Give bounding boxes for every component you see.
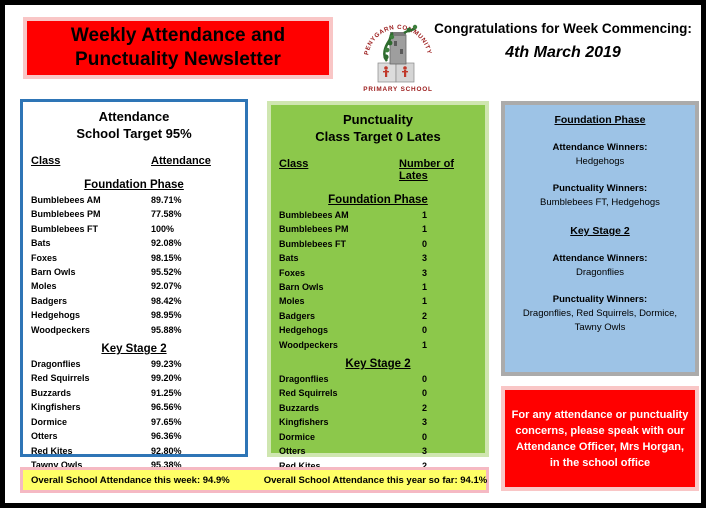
class-value: 3 bbox=[399, 266, 477, 280]
school-logo: PENYGARN COMMUNITY bbox=[360, 13, 436, 97]
attendance-sections: Foundation Phase Bumblebees AM89.71% Bum… bbox=[23, 179, 245, 472]
class-value: 92.80% bbox=[151, 444, 237, 458]
notice-panel: For any attendance or punctuality concer… bbox=[501, 386, 699, 491]
class-value: 96.56% bbox=[151, 400, 237, 414]
class-value: 2 bbox=[399, 401, 477, 415]
congrats-label: Congratulations for Week Commencing: bbox=[429, 19, 697, 39]
attendance-section-title-ks2: Key Stage 2 bbox=[23, 343, 245, 355]
table-row: Hedgehogs0 bbox=[279, 323, 477, 337]
class-name: Red Kites bbox=[31, 444, 151, 458]
class-name: Hedgehogs bbox=[31, 308, 151, 322]
class-name: Moles bbox=[279, 294, 399, 308]
class-value: 95.52% bbox=[151, 265, 237, 279]
table-row: Red Kites92.80% bbox=[31, 444, 237, 458]
title-line-2: Punctuality Newsletter bbox=[75, 48, 281, 72]
attendance-col-class: Class bbox=[31, 155, 60, 167]
class-name: Woodpeckers bbox=[279, 338, 399, 352]
table-row: Bumblebees AM1 bbox=[279, 208, 477, 222]
class-name: Woodpeckers bbox=[31, 323, 151, 337]
table-row: Kingfishers3 bbox=[279, 415, 477, 429]
class-value: 1 bbox=[399, 338, 477, 352]
class-name: Bumblebees PM bbox=[279, 222, 399, 236]
winners-ks2-title: Key Stage 2 bbox=[511, 224, 689, 239]
table-row: Woodpeckers1 bbox=[279, 338, 477, 352]
table-row: Otters96.36% bbox=[31, 429, 237, 443]
class-value: 0 bbox=[399, 430, 477, 444]
class-name: Bumblebees FT bbox=[31, 222, 151, 236]
class-value: 98.42% bbox=[151, 294, 237, 308]
punctuality-subheading: Class Target 0 Lates bbox=[271, 128, 485, 145]
class-name: Red Squirrels bbox=[279, 386, 399, 400]
class-name: Dragonflies bbox=[31, 357, 151, 371]
class-name: Barn Owls bbox=[31, 265, 151, 279]
table-row: Bumblebees AM89.71% bbox=[31, 193, 237, 207]
attendance-rows-ks2: Dragonflies99.23% Red Squirrels99.20% Bu… bbox=[23, 357, 245, 472]
punctuality-column-headers: Class Number of Lates bbox=[271, 158, 485, 182]
table-row: Otters3 bbox=[279, 444, 477, 458]
winners-fp-title: Foundation Phase bbox=[511, 113, 689, 128]
table-row: Moles1 bbox=[279, 294, 477, 308]
table-row: Bumblebees PM1 bbox=[279, 222, 477, 236]
winners-fp-punctuality-label: Punctuality Winners: bbox=[511, 182, 689, 196]
class-value: 98.15% bbox=[151, 251, 237, 265]
class-name: Dragonflies bbox=[279, 372, 399, 386]
attendance-col-value: Attendance bbox=[151, 155, 211, 167]
overall-attendance-bar: Overall School Attendance this week: 94.… bbox=[20, 467, 489, 493]
class-value: 92.08% bbox=[151, 236, 237, 250]
table-row: Barn Owls1 bbox=[279, 280, 477, 294]
class-value: 99.23% bbox=[151, 357, 237, 371]
table-row: Barn Owls95.52% bbox=[31, 265, 237, 279]
class-name: Badgers bbox=[279, 309, 399, 323]
attendance-panel-header: Attendance School Target 95% bbox=[23, 102, 245, 142]
class-name: Kingfishers bbox=[279, 415, 399, 429]
winners-fp-attendance-label: Attendance Winners: bbox=[511, 141, 689, 155]
table-row: Badgers98.42% bbox=[31, 294, 237, 308]
overall-attendance-year: Overall School Attendance this year so f… bbox=[264, 475, 488, 486]
class-value: 0 bbox=[399, 372, 477, 386]
winners-panel: Foundation Phase Attendance Winners: Hed… bbox=[501, 101, 699, 376]
table-row: Dragonflies0 bbox=[279, 372, 477, 386]
class-value: 96.36% bbox=[151, 429, 237, 443]
table-row: Foxes98.15% bbox=[31, 251, 237, 265]
newsletter-page: Weekly Attendance and Punctuality Newsle… bbox=[0, 0, 706, 508]
class-name: Foxes bbox=[279, 266, 399, 280]
class-value: 3 bbox=[399, 251, 477, 265]
class-name: Kingfishers bbox=[31, 400, 151, 414]
class-name: Otters bbox=[279, 444, 399, 458]
punctuality-panel: Punctuality Class Target 0 Lates Class N… bbox=[267, 101, 489, 457]
overall-attendance-week: Overall School Attendance this week: 94.… bbox=[31, 475, 230, 486]
svg-text:PRIMARY SCHOOL: PRIMARY SCHOOL bbox=[363, 86, 432, 93]
class-name: Red Squirrels bbox=[31, 371, 151, 385]
class-name: Dormice bbox=[279, 430, 399, 444]
attendance-rows-fp: Bumblebees AM89.71% Bumblebees PM77.58% … bbox=[23, 193, 245, 337]
attendance-section-title-fp: Foundation Phase bbox=[23, 179, 245, 191]
notice-text: For any attendance or punctuality concer… bbox=[505, 407, 695, 471]
punctuality-rows-fp: Bumblebees AM1 Bumblebees PM1 Bumblebees… bbox=[271, 208, 485, 352]
attendance-column-headers: Class Attendance bbox=[23, 155, 245, 167]
winners-ks2-attendance-label: Attendance Winners: bbox=[511, 252, 689, 266]
class-name: Foxes bbox=[31, 251, 151, 265]
class-value: 1 bbox=[399, 294, 477, 308]
attendance-panel: Attendance School Target 95% Class Atten… bbox=[20, 99, 248, 457]
class-value: 95.88% bbox=[151, 323, 237, 337]
punctuality-col-value: Number of Lates bbox=[399, 158, 454, 182]
class-name: Hedgehogs bbox=[279, 323, 399, 337]
school-crest-icon: PENYGARN COMMUNITY bbox=[360, 13, 436, 97]
winners-fp-punctuality-value: Bumblebees FT, Hedgehogs bbox=[511, 196, 689, 210]
class-name: Otters bbox=[31, 429, 151, 443]
table-row: Dormice0 bbox=[279, 430, 477, 444]
table-row: Dragonflies99.23% bbox=[31, 357, 237, 371]
punctuality-heading: Punctuality bbox=[271, 111, 485, 128]
table-row: Bumblebees PM77.58% bbox=[31, 207, 237, 221]
winners-ks2-punctuality-label: Punctuality Winners: bbox=[511, 293, 689, 307]
punctuality-section-title-fp: Foundation Phase bbox=[271, 194, 485, 206]
class-name: Bats bbox=[31, 236, 151, 250]
class-value: 0 bbox=[399, 237, 477, 251]
winners-fp-attendance-value: Hedgehogs bbox=[511, 155, 689, 169]
table-row: Woodpeckers95.88% bbox=[31, 323, 237, 337]
class-value: 92.07% bbox=[151, 279, 237, 293]
class-name: Bumblebees FT bbox=[279, 237, 399, 251]
attendance-heading: Attendance bbox=[23, 108, 245, 125]
table-row: Dormice97.65% bbox=[31, 415, 237, 429]
class-value: 3 bbox=[399, 444, 477, 458]
table-row: Badgers2 bbox=[279, 309, 477, 323]
header: Weekly Attendance and Punctuality Newsle… bbox=[5, 5, 701, 93]
table-row: Red Squirrels99.20% bbox=[31, 371, 237, 385]
class-value: 1 bbox=[399, 280, 477, 294]
table-row: Bats3 bbox=[279, 251, 477, 265]
table-row: Buzzards2 bbox=[279, 401, 477, 415]
class-name: Bumblebees AM bbox=[279, 208, 399, 222]
title-line-1: Weekly Attendance and bbox=[71, 24, 285, 48]
class-value: 100% bbox=[151, 222, 237, 236]
class-name: Buzzards bbox=[31, 386, 151, 400]
class-value: 0 bbox=[399, 323, 477, 337]
class-name: Bumblebees AM bbox=[31, 193, 151, 207]
class-value: 89.71% bbox=[151, 193, 237, 207]
table-row: Bumblebees FT0 bbox=[279, 237, 477, 251]
class-value: 98.95% bbox=[151, 308, 237, 322]
winners-ks2-punctuality-value-line1: Dragonflies, Red Squirrels, Dormice, bbox=[511, 307, 689, 321]
week-commencing-date: 4th March 2019 bbox=[429, 41, 697, 65]
class-name: Badgers bbox=[31, 294, 151, 308]
class-value: 97.65% bbox=[151, 415, 237, 429]
table-row: Hedgehogs98.95% bbox=[31, 308, 237, 322]
class-value: 91.25% bbox=[151, 386, 237, 400]
class-name: Barn Owls bbox=[279, 280, 399, 294]
class-value: 1 bbox=[399, 222, 477, 236]
class-value: 77.58% bbox=[151, 207, 237, 221]
table-row: Bats92.08% bbox=[31, 236, 237, 250]
table-row: Red Squirrels0 bbox=[279, 386, 477, 400]
class-value: 0 bbox=[399, 386, 477, 400]
class-value: 2 bbox=[399, 309, 477, 323]
class-name: Bumblebees PM bbox=[31, 207, 151, 221]
congratulations-block: Congratulations for Week Commencing: 4th… bbox=[429, 19, 697, 65]
class-name: Bats bbox=[279, 251, 399, 265]
winners-ks2-attendance-value: Dragonflies bbox=[511, 266, 689, 280]
class-name: Buzzards bbox=[279, 401, 399, 415]
winners-ks2-punctuality-value-line2: Tawny Owls bbox=[511, 321, 689, 335]
punctuality-panel-header: Punctuality Class Target 0 Lates bbox=[271, 105, 485, 145]
table-row: Kingfishers96.56% bbox=[31, 400, 237, 414]
class-value: 99.20% bbox=[151, 371, 237, 385]
table-row: Bumblebees FT100% bbox=[31, 222, 237, 236]
class-name: Moles bbox=[31, 279, 151, 293]
punctuality-section-title-ks2: Key Stage 2 bbox=[271, 358, 485, 370]
punctuality-col-class: Class bbox=[279, 158, 308, 170]
punctuality-sections: Foundation Phase Bumblebees AM1 Bumblebe… bbox=[271, 194, 485, 487]
class-name: Dormice bbox=[31, 415, 151, 429]
class-value: 3 bbox=[399, 415, 477, 429]
class-value: 1 bbox=[399, 208, 477, 222]
table-row: Moles92.07% bbox=[31, 279, 237, 293]
table-row: Foxes3 bbox=[279, 266, 477, 280]
attendance-subheading: School Target 95% bbox=[23, 125, 245, 142]
table-row: Buzzards91.25% bbox=[31, 386, 237, 400]
title-banner: Weekly Attendance and Punctuality Newsle… bbox=[23, 17, 333, 79]
